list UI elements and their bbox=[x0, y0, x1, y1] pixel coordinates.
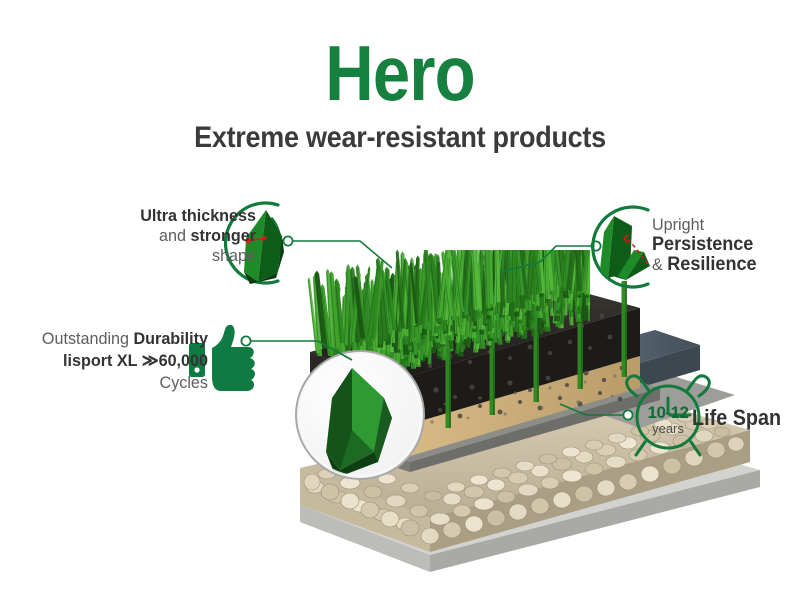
callout-line: and stronger bbox=[114, 226, 257, 246]
clock-years-value: 10-12 bbox=[636, 404, 700, 421]
layer-backing bbox=[310, 360, 660, 472]
callout-line: Persistence bbox=[652, 235, 800, 255]
connector-node-ultra-thickness bbox=[283, 236, 292, 245]
callout-line-part: & bbox=[652, 255, 667, 274]
connector-node-life-span bbox=[623, 410, 632, 419]
callout-line: Cycles bbox=[18, 372, 208, 394]
callout-line: & Resilience bbox=[652, 255, 800, 275]
layer-concrete-slab bbox=[300, 430, 760, 572]
callout-line: Outstanding Durability bbox=[18, 328, 208, 350]
page-subtitle: Extreme wear-resistant products bbox=[40, 122, 760, 154]
infographic-canvas: Hero Extreme wear-resistant products bbox=[0, 0, 800, 600]
callout-life-span-label: Life Span bbox=[692, 406, 791, 430]
callout-durability-text: Outstanding Durability lisport XL ≫60,00… bbox=[18, 328, 208, 394]
connector-line-durability bbox=[250, 341, 352, 360]
callout-upright-persistence-text: Upright Persistence & Resilience bbox=[652, 215, 800, 275]
callout-line-part: and bbox=[159, 226, 190, 245]
callout-line-part: Resilience bbox=[667, 254, 756, 275]
callout-line: shape bbox=[114, 246, 257, 266]
page-title: Hero bbox=[56, 34, 744, 112]
callout-line-part: stronger bbox=[190, 226, 256, 245]
connector-line-life-span bbox=[560, 404, 624, 415]
connector-line-ultra-thickness bbox=[292, 241, 392, 268]
clock-value-group: 10-12 years bbox=[636, 404, 700, 436]
layer-sand-infill bbox=[310, 332, 640, 462]
callout-line-part: Durability bbox=[134, 329, 208, 348]
turf-grass-blades bbox=[308, 208, 642, 375]
connector-line-upright bbox=[500, 246, 592, 272]
connector-node-durability bbox=[241, 336, 250, 345]
magnifier-blade-closeup bbox=[296, 351, 424, 479]
callout-line: Ultra thickness bbox=[114, 206, 257, 226]
clock-years-unit: years bbox=[636, 421, 700, 436]
layer-rubber-infill bbox=[310, 286, 640, 430]
callout-line: Upright bbox=[652, 215, 800, 235]
callout-ultra-thickness-text: Ultra thickness and stronger shape bbox=[114, 206, 257, 266]
bent-grass-blade-icon bbox=[593, 207, 650, 287]
fibre-tufts-cutaway bbox=[330, 281, 626, 440]
connector-node-upright bbox=[591, 241, 600, 250]
callout-line: lisport XL ≫60,000 bbox=[18, 350, 208, 372]
callout-line-part: Outstanding bbox=[42, 329, 134, 348]
